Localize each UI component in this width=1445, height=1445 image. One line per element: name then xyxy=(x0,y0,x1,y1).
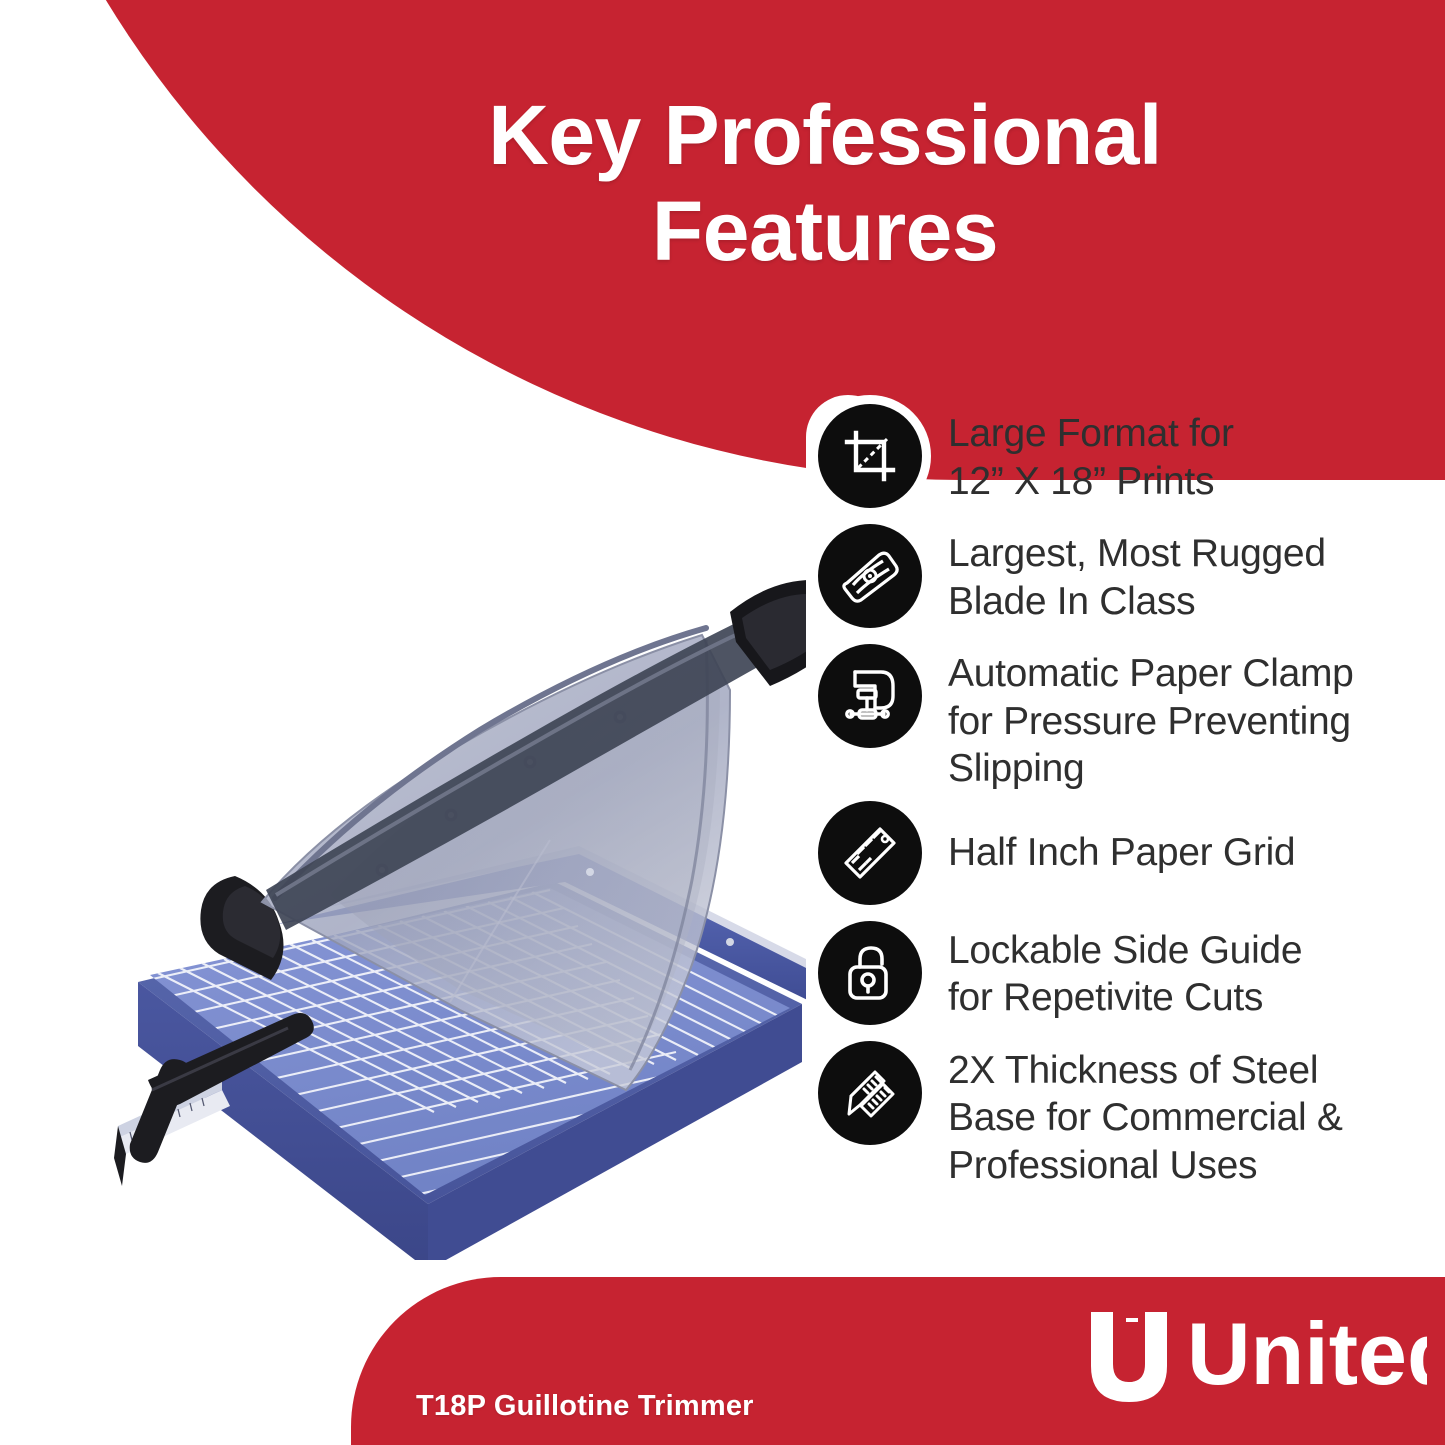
feature-text-paper-grid: Half Inch Paper Grid xyxy=(922,801,1428,877)
feature-item-paper-grid[interactable]: Half Inch Paper Grid xyxy=(818,801,1428,905)
feature-line: Professional Uses xyxy=(948,1142,1428,1190)
feature-line: Largest, Most Rugged xyxy=(948,530,1428,578)
united-logo-u xyxy=(1091,1312,1167,1402)
crop-frame-icon xyxy=(818,404,922,508)
rail-screw xyxy=(586,868,594,876)
feature-item-side-guide[interactable]: Lockable Side Guide for Repetivite Cuts xyxy=(818,921,1428,1025)
feature-line: Lockable Side Guide xyxy=(948,927,1428,975)
feature-item-rugged-blade[interactable]: Largest, Most Rugged Blade In Class xyxy=(818,524,1428,628)
blade-icon xyxy=(818,524,922,628)
feature-text-rugged-blade: Largest, Most Rugged Blade In Class xyxy=(922,524,1428,625)
feature-text-side-guide: Lockable Side Guide for Repetivite Cuts xyxy=(922,921,1428,1022)
feature-line: 12” X 18” Prints xyxy=(948,458,1428,506)
feature-item-steel-base[interactable]: 2X Thickness of Steel Base for Commercia… xyxy=(818,1041,1428,1190)
feature-text-large-format: Large Format for 12” X 18” Prints xyxy=(922,404,1428,505)
feature-line: Automatic Paper Clamp xyxy=(948,650,1428,698)
page-title-line-1: Key Professional xyxy=(300,88,1350,184)
feature-line: 2X Thickness of Steel xyxy=(948,1047,1428,1095)
united-logo-wordmark: United xyxy=(1187,1308,1427,1403)
feature-item-paper-clamp[interactable]: Automatic Paper Clamp for Pressure Preve… xyxy=(818,644,1428,793)
feature-line: Base for Commercial & xyxy=(948,1094,1428,1142)
united-logo: United xyxy=(1087,1308,1427,1406)
page-title-line-2: Features xyxy=(300,184,1350,280)
feature-text-paper-clamp: Automatic Paper Clamp for Pressure Preve… xyxy=(922,644,1428,793)
caliper-icon xyxy=(818,1041,922,1145)
ruler-icon xyxy=(818,801,922,905)
feature-line: Half Inch Paper Grid xyxy=(948,829,1428,877)
feature-line: Blade In Class xyxy=(948,578,1428,626)
clamp-icon xyxy=(818,644,922,748)
product-caption: T18P Guillotine Trimmer xyxy=(416,1390,754,1423)
feature-list: Large Format for 12” X 18” Prints Large xyxy=(818,404,1428,1189)
product-image xyxy=(30,390,860,1260)
feature-line: Slipping xyxy=(948,745,1428,793)
page-title: Key Professional Features xyxy=(300,88,1350,280)
feature-line: for Pressure Preventing xyxy=(948,698,1428,746)
feature-item-large-format[interactable]: Large Format for 12” X 18” Prints xyxy=(818,404,1428,508)
infographic-canvas: Key Professional Features xyxy=(0,0,1445,1445)
feature-text-steel-base: 2X Thickness of Steel Base for Commercia… xyxy=(922,1041,1428,1190)
feature-line: for Repetivite Cuts xyxy=(948,974,1428,1022)
unlocked-padlock-icon xyxy=(818,921,922,1025)
rail-screw xyxy=(726,938,734,946)
feature-line: Large Format for xyxy=(948,410,1428,458)
